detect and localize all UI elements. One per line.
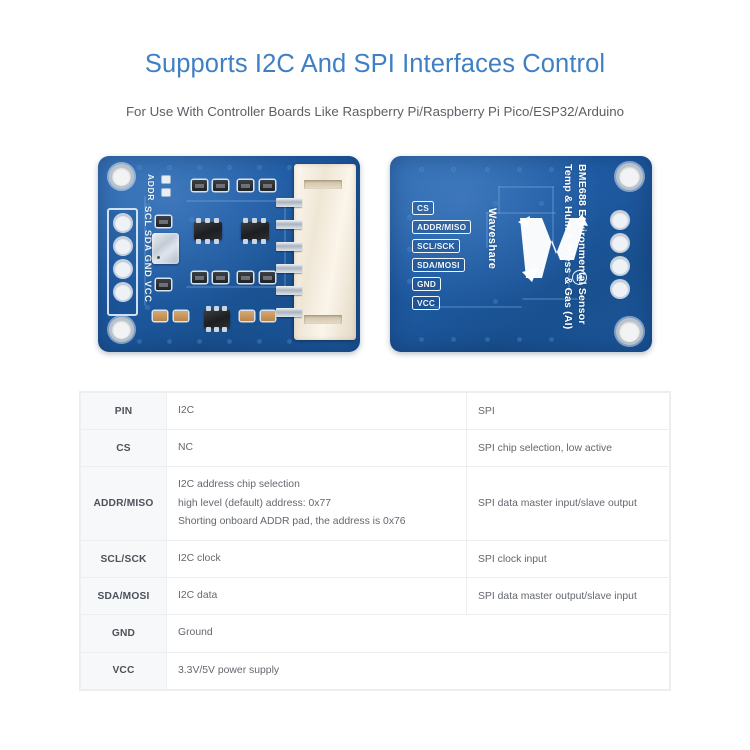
mount-hole-top-right: [619, 166, 640, 187]
jst-connector: [294, 164, 356, 340]
table-cell-spi: SPI clock input: [467, 541, 670, 578]
pin-label-cs: CS: [412, 201, 434, 215]
page-subtitle: For Use With Controller Boards Like Rasp…: [0, 104, 750, 119]
table-cell-spi: SPI data master output/slave input: [467, 578, 670, 615]
pin-label-vcc: VCC: [412, 296, 440, 310]
table-cell-spi: SPI chip selection, low active: [467, 430, 670, 467]
smd-resistor: [260, 272, 275, 283]
table-cell-pin: SCL/SCK: [81, 541, 167, 578]
table-row: GNDGround: [81, 615, 670, 652]
connector-pin: [276, 198, 302, 207]
pin-label-sda-mosi: SDA/MOSI: [412, 258, 465, 272]
brand-text-vertical: Waveshare: [486, 208, 498, 269]
smd-capacitor: [174, 311, 188, 321]
smd-capacitor: [153, 311, 167, 321]
table-cell-pin: VCC: [81, 652, 167, 689]
board-front-image: ADDR SCL SDA GND VCC: [98, 156, 360, 352]
pin-label-gnd: GND: [412, 277, 441, 291]
header-pad: [612, 258, 628, 274]
header-pad: [612, 212, 628, 228]
product-feature-page: Supports I2C And SPI Interfaces Control …: [0, 0, 750, 750]
table-cell-i2c: NC: [167, 430, 467, 467]
table-cell-pin: CS: [81, 430, 167, 467]
table-row: VCC3.3V/5V power supply: [81, 652, 670, 689]
table-row: ADDR/MISOI2C address chip selectionhigh …: [81, 467, 670, 541]
table-cell-line: high level (default) address: 0x77: [178, 495, 466, 513]
smd-resistor: [238, 272, 253, 283]
table-cell-i2c: I2C clock: [167, 541, 467, 578]
smd-resistor: [156, 279, 171, 290]
table-row: SDA/MOSII2C dataSPI data master output/s…: [81, 578, 670, 615]
table-cell-pin: GND: [81, 615, 167, 652]
addr-solder-pad-a: [162, 176, 170, 183]
connector-pin: [276, 286, 302, 295]
smd-resistor: [192, 272, 207, 283]
registered-trademark-icon: R: [572, 270, 587, 285]
table-cell-i2c: Ground: [167, 615, 670, 652]
board-photo-row: ADDR SCL SDA GND VCC: [0, 150, 750, 360]
pin-label-scl-sck: SCL/SCK: [412, 239, 460, 253]
table-body: PINI2CSPICSNCSPI chip selection, low act…: [81, 393, 670, 690]
smd-resistor: [156, 216, 171, 227]
table-cell-line: I2C clock: [178, 550, 466, 568]
table-cell-i2c: 3.3V/5V power supply: [167, 652, 670, 689]
table-cell-i2c: I2C: [167, 393, 467, 430]
connector-pin: [276, 242, 302, 251]
table-cell-line: Shorting onboard ADDR pad, the address i…: [178, 513, 466, 531]
table-cell-line: I2C address chip selection: [178, 476, 466, 494]
mount-hole-top-left: [112, 167, 131, 186]
pin-label-addr-miso: ADDR/MISO: [412, 220, 471, 234]
smd-resistor: [260, 180, 275, 191]
connector-pin: [276, 308, 302, 317]
smd-capacitor: [261, 311, 275, 321]
table-cell-spi: SPI: [467, 393, 670, 430]
connector-pin: [276, 264, 302, 273]
bme688-sensor-chip: [152, 233, 179, 264]
table-cell-pin: SDA/MOSI: [81, 578, 167, 615]
table-row: CSNCSPI chip selection, low active: [81, 430, 670, 467]
smd-ic-c: [204, 310, 230, 328]
table-row: PINI2CSPI: [81, 393, 670, 430]
mount-hole-bottom-left: [112, 320, 131, 339]
table-cell-line: NC: [178, 439, 466, 457]
smd-resistor: [192, 180, 207, 191]
table-cell-line: I2C data: [178, 587, 466, 605]
connector-pin: [276, 220, 302, 229]
header-pad: [612, 235, 628, 251]
table-row: SCL/SCKI2C clockSPI clock input: [81, 541, 670, 578]
smd-ic-b: [241, 222, 269, 240]
page-title: Supports I2C And SPI Interfaces Control: [0, 50, 750, 79]
table-cell-line: I2C: [178, 402, 466, 420]
table-cell-i2c: I2C address chip selectionhigh level (de…: [167, 467, 467, 541]
smd-capacitor: [240, 311, 254, 321]
silkscreen-addr: ADDR: [146, 174, 156, 201]
smd-resistor: [238, 180, 253, 191]
table-cell-pin: PIN: [81, 393, 167, 430]
pin-definition-table: PINI2CSPICSNCSPI chip selection, low act…: [80, 392, 670, 690]
header-pad-column: [107, 208, 138, 316]
smd-resistor: [213, 272, 228, 283]
header-pad: [612, 281, 628, 297]
table-cell-line: 3.3V/5V power supply: [178, 662, 669, 680]
table-cell-i2c: I2C data: [167, 578, 467, 615]
board-back-image: CS ADDR/MISO SCL/SCK SDA/MOSI GND VCC Wa…: [390, 156, 652, 352]
mount-hole-bottom-right: [619, 321, 640, 342]
smd-resistor: [213, 180, 228, 191]
smd-ic-a: [194, 222, 222, 240]
table-cell-spi: SPI data master input/slave output: [467, 467, 670, 541]
table-cell-line: Ground: [178, 624, 669, 642]
table-cell-pin: ADDR/MISO: [81, 467, 167, 541]
addr-solder-pad-b: [162, 189, 170, 196]
